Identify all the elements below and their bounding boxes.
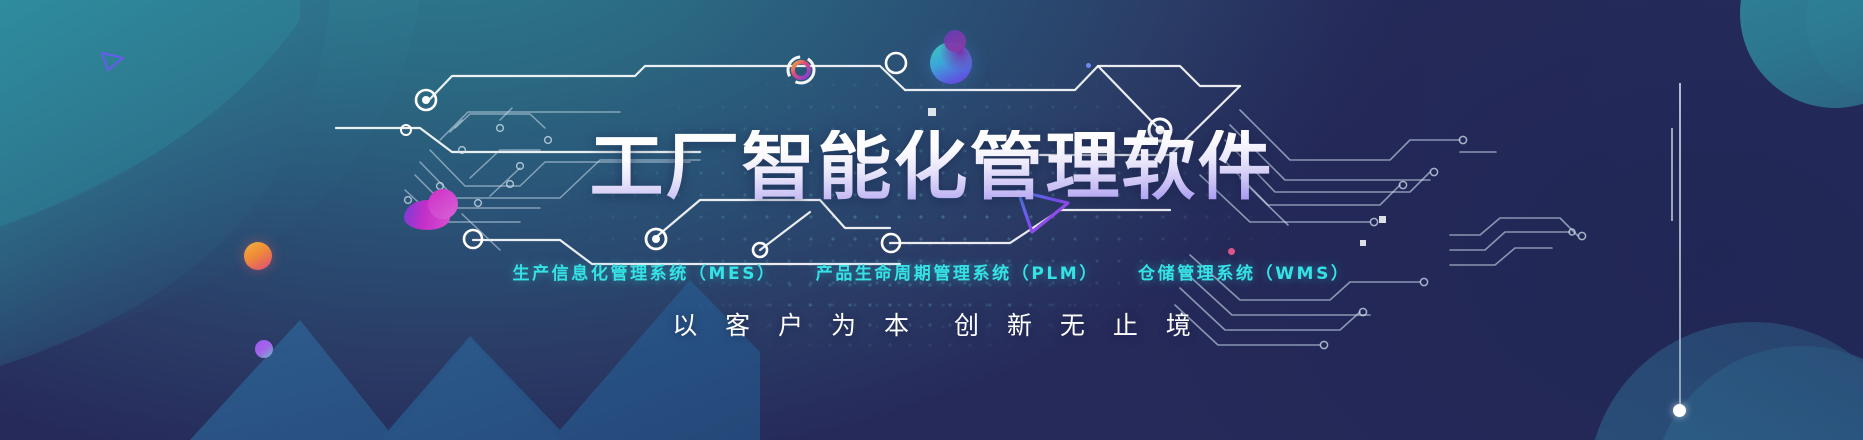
- triangle-outline-small: [100, 50, 126, 72]
- ring-node-gradient: [785, 54, 817, 86]
- triangle-outline-purple: [1012, 187, 1072, 235]
- magenta-blob: [404, 200, 450, 230]
- orange-dot: [244, 242, 272, 270]
- pink-dot: [1228, 248, 1235, 255]
- vertical-line-long: [1679, 83, 1681, 405]
- vertical-line-dot: [1673, 404, 1686, 417]
- gradient-sphere: [930, 42, 972, 84]
- hero-banner: 工厂智能化管理软件 生产信息化管理系统（MES） 产品生命周期管理系统（PLM）…: [0, 0, 1863, 440]
- purple-dot: [255, 340, 273, 358]
- vertical-line-short: [1671, 128, 1673, 221]
- blue-dot: [1086, 63, 1091, 68]
